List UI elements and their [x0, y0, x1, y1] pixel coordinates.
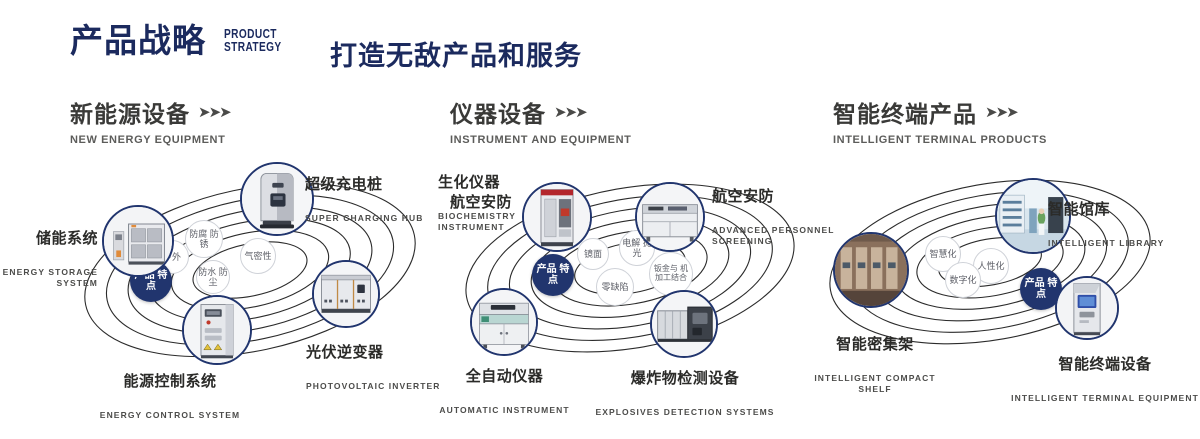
caption-cn: 智能馆库 — [1048, 201, 1188, 218]
caption-explosives-detection-systems: 爆炸物检测设备 EXPLOSIVES DETECTION SYSTEMS — [590, 352, 780, 436]
feature-bubble: 气密性 — [240, 238, 276, 274]
section-title-new-energy: 新能源设备 ➤➤➤ NEW ENERGY EQUIPMENT — [70, 95, 230, 146]
page-title: 产品战略 — [70, 24, 206, 57]
charging-pile-icon — [242, 164, 312, 234]
core-bubble-product-features: 产品 特点 — [532, 254, 574, 296]
inverter-cabinet-icon — [314, 262, 378, 326]
node-energy-storage-system[interactable] — [102, 205, 174, 277]
caption-cn: 智能终端设备 — [1010, 356, 1200, 373]
compact-shelf-icon — [835, 234, 907, 306]
section-label: 仪器设备 — [450, 95, 546, 129]
explosives-detector-icon — [652, 292, 716, 356]
caption-en: INTELLIGENT COMPACT SHELF — [795, 373, 955, 394]
caption-en: BIOCHEMISTRY INSTRUMENT — [438, 211, 578, 232]
caption-en: ENERGY CONTROL SYSTEM — [85, 410, 255, 421]
cluster-intelligent-terminal: 智慧化 人性化 数字化 产品 特点 — [805, 150, 1200, 390]
page-title-english: PRODUCT STRATEGY — [224, 27, 282, 57]
node-super-charging-hub[interactable] — [240, 162, 314, 236]
automatic-analyzer-icon — [472, 290, 536, 354]
caption-cn: 生化仪器 — [438, 174, 578, 191]
node-photovoltaic-inverter[interactable] — [312, 260, 380, 328]
caption-en: INTELLIGENT TERMINAL EQUIPMENT — [1010, 393, 1200, 404]
self-service-terminal-icon — [1057, 278, 1117, 338]
caption-biochemistry-instrument: 生化仪器 BIOCHEMISTRY INSTRUMENT — [438, 156, 578, 251]
section-title-cn: 新能源设备 ➤➤➤ — [70, 95, 230, 129]
caption-cn: 储能系统 — [0, 230, 98, 247]
caption-energy-storage-system: 储能系统 ENERGY STORAGE SYSTEM — [0, 212, 98, 307]
node-automatic-instrument[interactable] — [470, 288, 538, 356]
page-header: 产品战略 PRODUCT STRATEGY — [70, 24, 298, 57]
control-cabinet-icon — [184, 297, 250, 363]
caption-en: AUTOMATIC INSTRUMENT — [422, 405, 587, 416]
caption-en: EXPLOSIVES DETECTION SYSTEMS — [590, 407, 780, 418]
node-explosives-detection-systems[interactable] — [650, 290, 718, 358]
caption-cn: 智能密集架 — [795, 336, 955, 353]
caption-intelligent-compact-shelf: 智能密集架 INTELLIGENT COMPACT SHELF — [795, 318, 955, 413]
node-advanced-personnel-screening[interactable] — [635, 182, 705, 252]
caption-intelligent-terminal-equipment: 智能终端设备 INTELLIGENT TERMINAL EQUIPMENT — [1010, 338, 1200, 422]
section-title-instrument: 仪器设备 ➤➤➤ INSTRUMENT AND EQUIPMENT — [450, 95, 631, 146]
caption-en: INTELLIGENT LIBRARY — [1048, 238, 1188, 249]
cluster-new-energy: 户外 防腐 防锈 气密性 防水 防尘 产品 特点 储能系统 ENERGY S — [50, 150, 450, 390]
chevron-right-icon: ➤➤➤ — [554, 103, 586, 121]
node-intelligent-terminal-equipment[interactable] — [1055, 276, 1119, 340]
caption-en: ENERGY STORAGE SYSTEM — [0, 267, 98, 288]
infographic-canvas: 产品战略 PRODUCT STRATEGY 打造无敌产品和服务 新能源设备 ➤➤… — [0, 0, 1200, 422]
section-title-intelligent-terminal: 智能终端产品 ➤➤➤ INTELLIGENT TERMINAL PRODUCTS — [833, 95, 1047, 146]
section-title-en: INTELLIGENT TERMINAL PRODUCTS — [833, 134, 1047, 146]
screening-machine-icon — [637, 184, 703, 250]
chevron-right-icon: ➤➤➤ — [985, 103, 1017, 121]
caption-cn: 爆炸物检测设备 — [590, 370, 780, 387]
energy-storage-cabinet-icon — [104, 207, 172, 275]
chevron-right-icon: ➤➤➤ — [198, 103, 230, 121]
caption-cn: 能源控制系统 — [85, 373, 255, 390]
feature-bubble: 数字化 — [945, 262, 981, 298]
section-title-cn: 仪器设备 ➤➤➤ — [450, 95, 631, 129]
section-title-en: INSTRUMENT AND EQUIPMENT — [450, 134, 631, 146]
page-subtitle: 打造无敌产品和服务 — [330, 34, 582, 73]
cluster-instrument: 镜面 电解 抛光 钣金与 机加工结合 零缺陷 产品 特点 航空安防 生化仪器 — [430, 150, 830, 390]
section-label: 新能源设备 — [70, 95, 190, 129]
caption-intelligent-library: 智能馆库 INTELLIGENT LIBRARY — [1048, 183, 1188, 267]
caption-automatic-instrument: 全自动仪器 AUTOMATIC INSTRUMENT — [422, 350, 587, 434]
section-title-cn: 智能终端产品 ➤➤➤ — [833, 95, 1047, 129]
caption-cn: 全自动仪器 — [422, 368, 587, 385]
caption-energy-control-system: 能源控制系统 ENERGY CONTROL SYSTEM — [85, 355, 255, 439]
node-intelligent-compact-shelf[interactable] — [833, 232, 909, 308]
feature-bubble: 零缺陷 — [596, 268, 634, 306]
section-title-en: NEW ENERGY EQUIPMENT — [70, 134, 230, 146]
feature-bubble: 防腐 防锈 — [185, 220, 223, 258]
section-label: 智能终端产品 — [833, 95, 977, 129]
feature-bubble: 防水 防尘 — [196, 260, 230, 294]
